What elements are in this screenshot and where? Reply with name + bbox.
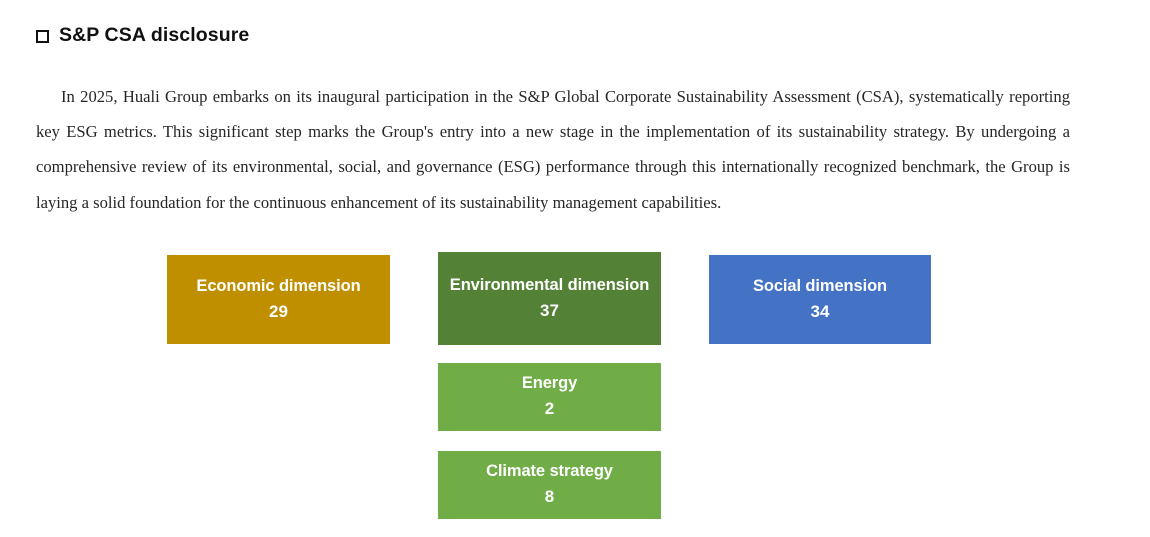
score-card-label: Climate strategy	[478, 461, 621, 483]
score-card-economic-dimension: Economic dimension 29	[167, 255, 390, 344]
score-card-value: 37	[540, 300, 559, 323]
score-card-label: Energy	[514, 373, 585, 395]
score-card-value: 29	[269, 301, 288, 324]
score-card-climate-strategy: Climate strategy 8	[438, 451, 661, 519]
score-card-energy: Energy 2	[438, 363, 661, 431]
page-title: S&P CSA disclosure	[36, 24, 249, 47]
score-card-value: 2	[545, 398, 554, 421]
score-card-value: 34	[811, 301, 830, 324]
score-card-value: 8	[545, 486, 554, 509]
disclosure-paragraph: In 2025, Huali Group embarks on its inau…	[36, 79, 1070, 221]
page-title-text: S&P CSA disclosure	[59, 24, 249, 47]
score-card-environmental-dimension: Environmental dimension 37	[438, 252, 661, 345]
square-bullet-icon	[36, 30, 49, 43]
score-card-social-dimension: Social dimension 34	[709, 255, 931, 344]
score-card-label: Social dimension	[745, 276, 895, 298]
score-card-label: Environmental dimension	[442, 275, 657, 297]
score-card-label: Economic dimension	[188, 276, 368, 298]
